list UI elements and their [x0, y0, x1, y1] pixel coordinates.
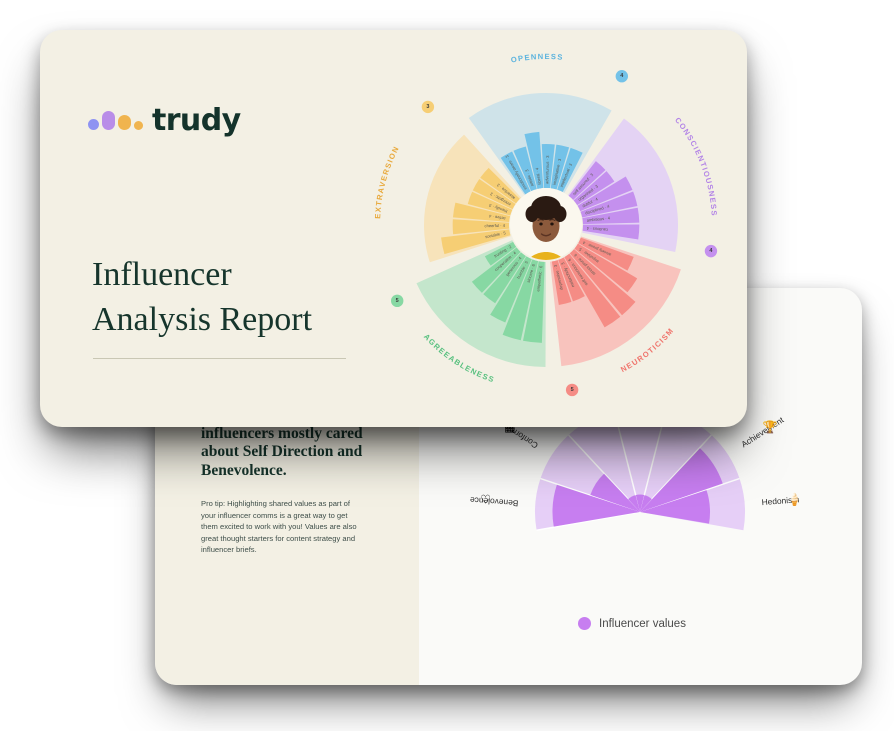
trudy-logo: trudy [88, 103, 241, 138]
page-title-line1: Influencer [92, 253, 372, 298]
page-title-line2: Analysis Report [92, 298, 372, 343]
logo-dot-purple-icon [102, 111, 115, 130]
logo-wordmark: trudy [152, 103, 241, 138]
radar-axis-icon: 🏆 [763, 420, 778, 434]
screenshot-stage: influencers mostly cared about Self Dire… [0, 0, 894, 731]
logo-dots-icon [88, 111, 143, 130]
radar-axis-icon: ♡ [480, 493, 491, 507]
sunburst-category-label: EXTRAVERSION [373, 144, 401, 219]
influencer-avatar [510, 188, 582, 260]
sunburst-category-label: OPENNESS [510, 52, 564, 65]
page-title: Influencer Analysis Report [92, 253, 372, 343]
sunburst-score-value: 5 [396, 298, 399, 304]
logo-dot-orange-icon [118, 115, 131, 130]
sunburst-score-value: 5 [571, 387, 574, 393]
sunburst-trait-label: cheerful · 4 [484, 223, 505, 228]
legend-label: Influencer values [599, 618, 686, 630]
logo-dot-small-orange-icon [134, 121, 143, 130]
pro-tip-text: Pro tip: Highlighting shared values as p… [201, 498, 359, 556]
logo-dot-blue-icon [88, 119, 99, 130]
legend-color-swatch [578, 617, 591, 630]
title-divider [93, 358, 346, 359]
sunburst-trait-label: adventurous · 3 [544, 155, 550, 184]
values-headline: influencers mostly cared about Self Dire… [201, 425, 386, 480]
values-radar-chart: Benevolence♡Conformity▦Tradition📖Securit… [488, 392, 798, 637]
sunburst-category-label: CONSCIENTIOUSNESS [673, 116, 719, 217]
radar-legend: Influencer values [578, 617, 686, 630]
radar-axis-icon: 🍦 [787, 493, 802, 507]
sunburst-score-value: 3 [426, 104, 429, 110]
